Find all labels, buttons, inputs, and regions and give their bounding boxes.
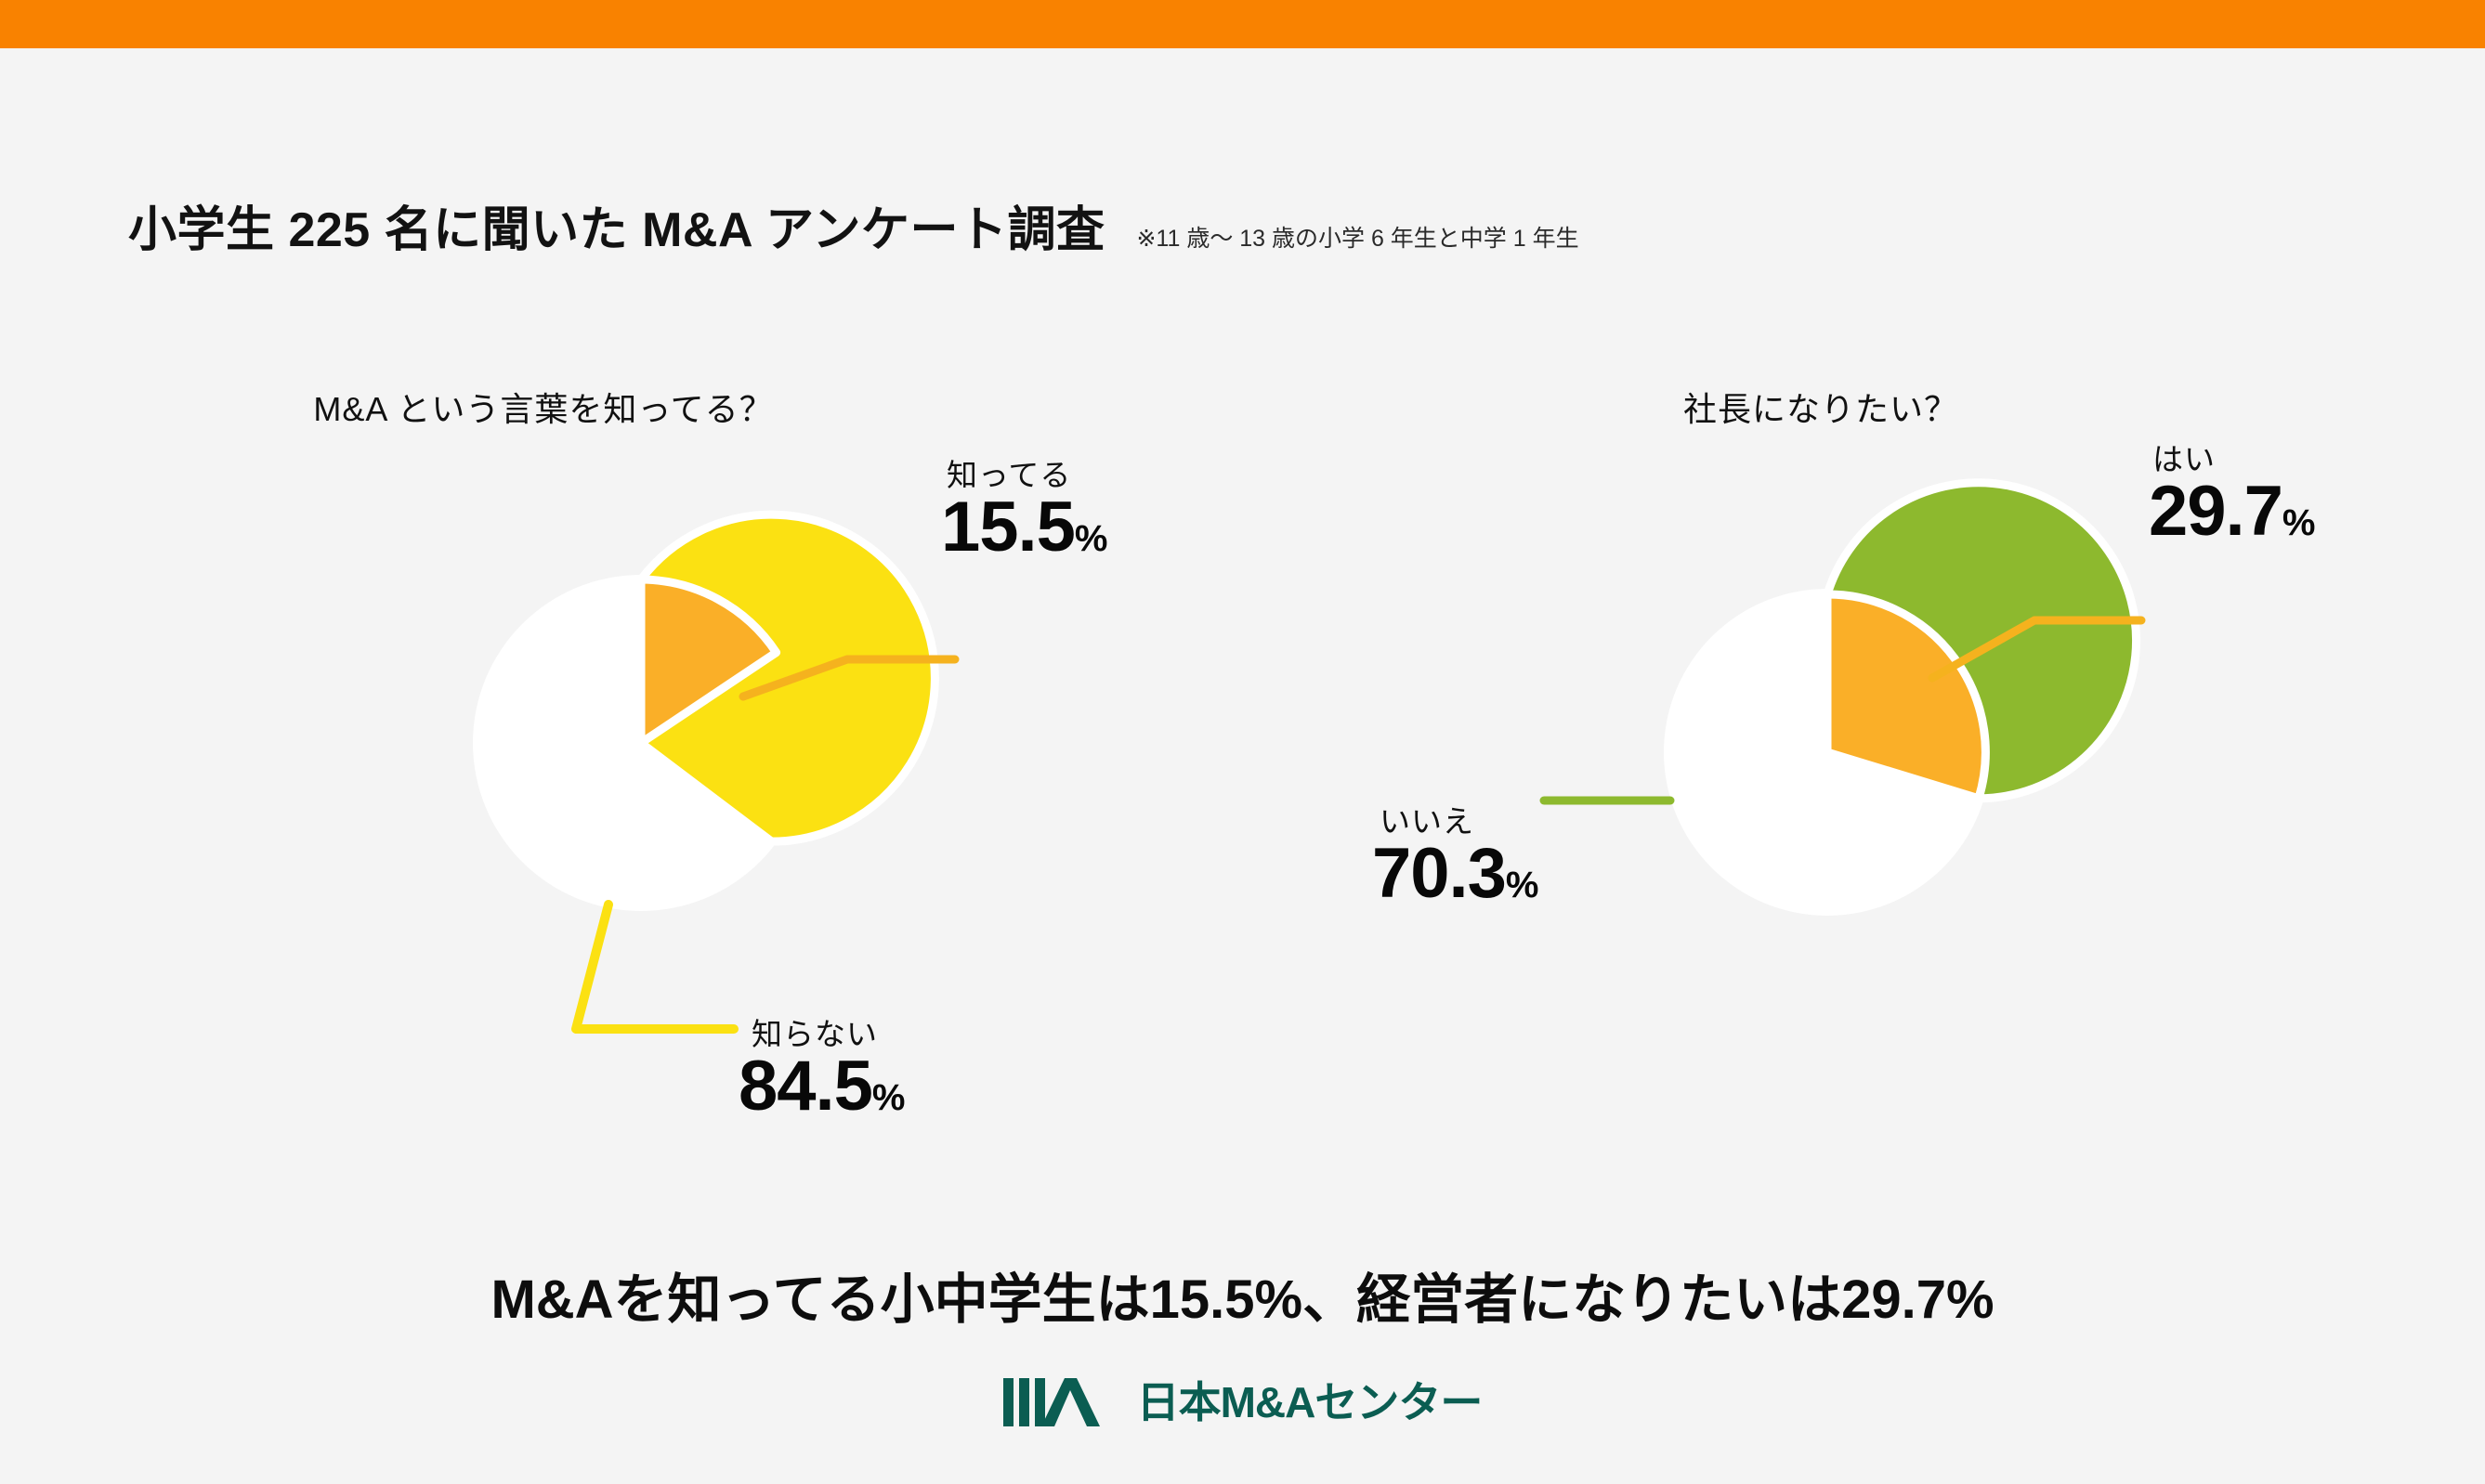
charts-row: M&A という言葉を知ってる？ 社長になりたい？ — [0, 371, 2485, 1207]
callout-hai: はい 29.7% — [2149, 444, 2316, 547]
company-logo: 日本M&Aセンター — [0, 1378, 2485, 1426]
callout-value-hai: 29.7% — [2149, 476, 2316, 547]
page-title: 小学生 225 名に聞いた M&A アンケート調査 — [128, 190, 1105, 260]
callout-number-shitteru: 15.5 — [941, 488, 1075, 566]
percent-sign: % — [2282, 502, 2316, 543]
percent-sign: % — [1075, 518, 1108, 559]
infographic-canvas: 小学生 225 名に聞いた M&A アンケート調査 ※11 歳〜 13 歳の小学… — [0, 0, 2485, 1484]
summary-caption: M&Aを知ってる小中学生は15.5%、経営者になりたいは29.7% — [0, 1256, 2485, 1334]
callout-value-shitteru: 15.5% — [941, 492, 1108, 563]
header: 小学生 225 名に聞いた M&A アンケート調査 ※11 歳〜 13 歳の小学… — [128, 190, 1579, 260]
callout-value-shiranai: 84.5% — [739, 1051, 906, 1122]
callout-number-hai: 29.7 — [2149, 472, 2282, 551]
leader-line-shiranai — [576, 905, 734, 1029]
callout-shiranai: 知らない 84.5% — [739, 1019, 906, 1122]
callout-shitteru: 知ってる 15.5% — [941, 460, 1108, 563]
callout-value-iie: 70.3% — [1372, 839, 1539, 909]
header-note: ※11 歳〜 13 歳の小学 6 年生と中学 1 年生 — [1136, 220, 1578, 254]
percent-sign: % — [1506, 865, 1539, 905]
callout-iie: いいえ 70.3% — [1372, 806, 1539, 909]
callout-number-iie: 70.3 — [1372, 834, 1506, 913]
nihon-ma-center-mark-icon — [1003, 1378, 1122, 1426]
top-accent-bar — [0, 0, 2485, 48]
callout-number-shiranai: 84.5 — [739, 1047, 872, 1126]
logo-text: 日本M&Aセンター — [1137, 1381, 1483, 1424]
percent-sign: % — [872, 1077, 906, 1118]
